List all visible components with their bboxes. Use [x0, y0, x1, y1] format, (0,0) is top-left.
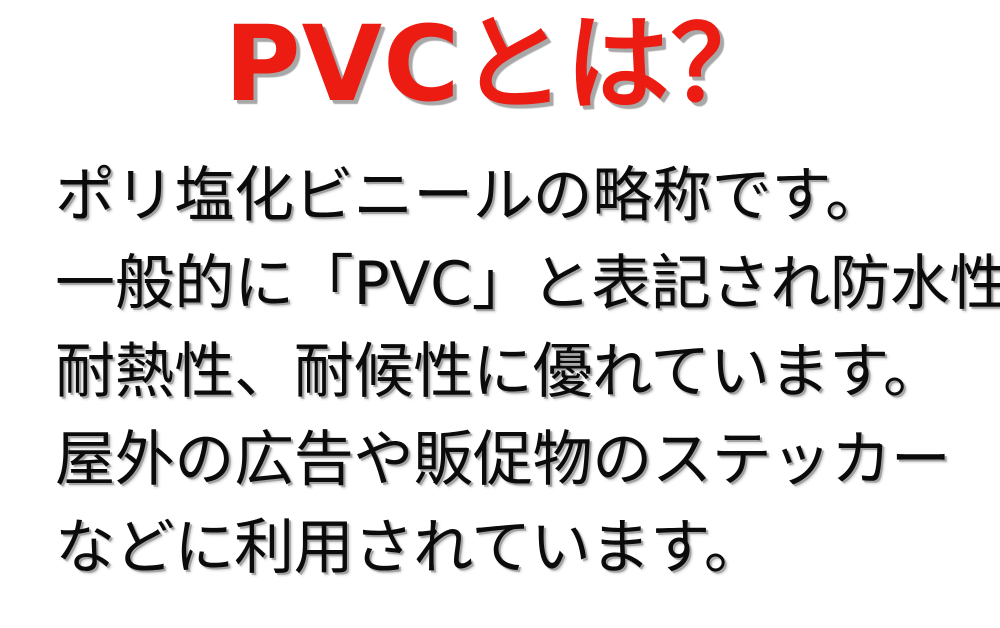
page-title: PVCとは？ — [224, 10, 775, 119]
body-line-4: 屋外の広告や販促物のステッカー — [55, 416, 985, 504]
slide-canvas: PVCとは？ ポリ塩化ビニールの略称です。 一般的に「PVC」と表記され防水性、… — [0, 0, 1000, 628]
title-container: PVCとは？ — [0, 0, 1000, 130]
body-line-3: 耐熱性、耐候性に優れています。 — [55, 328, 985, 416]
body-line-1: ポリ塩化ビニールの略称です。 — [55, 152, 985, 240]
body-line-2: 一般的に「PVC」と表記され防水性、 — [55, 240, 985, 328]
body-line-5: などに利用されています。 — [55, 504, 985, 592]
body-text-container: ポリ塩化ビニールの略称です。 一般的に「PVC」と表記され防水性、 耐熱性、耐候… — [55, 152, 985, 592]
